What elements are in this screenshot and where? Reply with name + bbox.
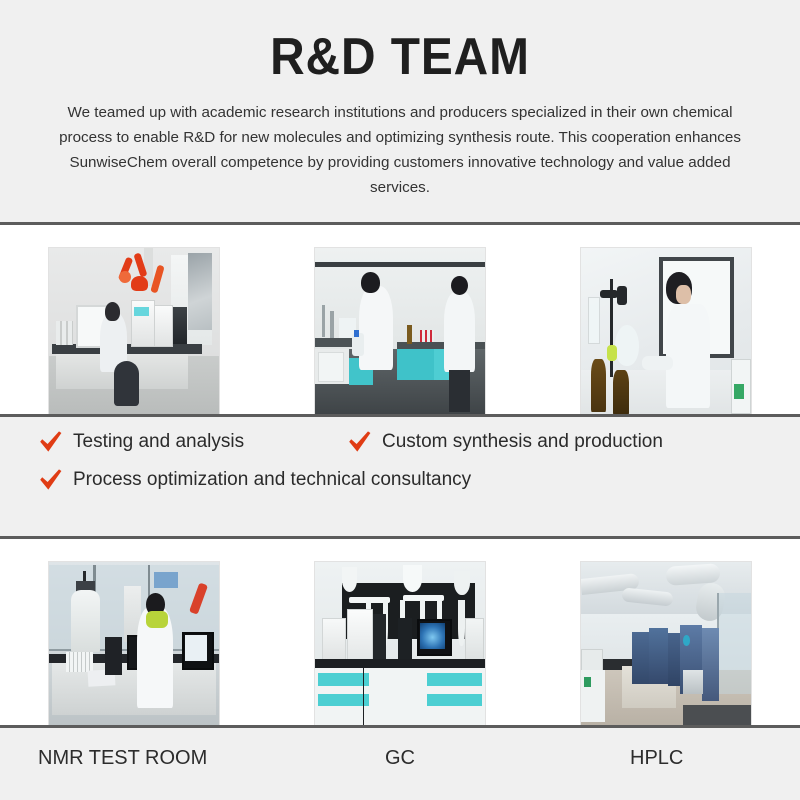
chemist-foreground xyxy=(359,286,393,370)
caption-nmr-test-room: NMR TEST ROOM xyxy=(38,744,207,772)
gc-instrument xyxy=(347,609,373,660)
test-tube-rack xyxy=(66,652,93,671)
photo-analytical-lab-operator[interactable] xyxy=(48,247,220,423)
teal-drawer xyxy=(427,694,481,706)
ceiling-extraction-hood xyxy=(454,571,469,595)
computer-tower xyxy=(398,618,412,660)
sample-vials xyxy=(420,330,434,342)
chemist-background xyxy=(444,292,475,372)
hplc-instrument xyxy=(632,632,649,684)
panel-indicator xyxy=(734,384,744,400)
round-bottom-flask xyxy=(615,325,639,367)
nmr-spectrometer xyxy=(71,590,100,653)
feature-item-testing-and-analysis[interactable]: Testing and analysis xyxy=(0,429,347,455)
instrument-badge xyxy=(683,635,690,645)
gc-instrument xyxy=(322,618,346,662)
extraction-snorkel xyxy=(458,600,465,645)
hplc-instrument xyxy=(154,305,173,347)
caption-hplc: HPLC xyxy=(630,744,683,772)
condenser-column xyxy=(588,297,600,344)
computer-tower xyxy=(373,614,387,659)
chemist-face xyxy=(676,285,691,304)
hplc-instrument xyxy=(702,628,719,701)
red-extraction-hood xyxy=(131,276,148,292)
glass-partition xyxy=(717,593,752,694)
instrument-display xyxy=(134,307,149,316)
photo-synthesis-lab-chemists[interactable] xyxy=(314,247,486,423)
binder-shelf xyxy=(56,321,73,345)
photo-hplc-room[interactable] xyxy=(580,561,752,737)
teal-cabinet xyxy=(397,349,434,380)
photo-distillation-workstation[interactable] xyxy=(580,247,752,423)
computer-tower xyxy=(105,637,122,675)
wall-trim xyxy=(315,262,485,267)
amber-bottle xyxy=(613,370,628,415)
monitor-screen xyxy=(420,623,446,649)
office-chair xyxy=(114,361,140,406)
chemist-head xyxy=(361,272,380,293)
instrument-drawer xyxy=(683,670,703,694)
rd-team-page: R&D TEAM We teamed up with academic rese… xyxy=(0,0,800,800)
monitor-screen xyxy=(185,635,207,661)
amber-bottle xyxy=(591,359,606,411)
feature-item-process-optimization-and-technical-consultancy[interactable]: Process optimization and technical consu… xyxy=(0,467,471,493)
lab-faucet xyxy=(330,311,333,339)
lab-faucet xyxy=(322,305,325,336)
chemist-head xyxy=(451,276,468,295)
hplc-instrument xyxy=(649,628,668,684)
bottle-cap xyxy=(354,330,359,337)
photo-row-top xyxy=(0,231,800,407)
check-mark-icon xyxy=(38,467,64,493)
side-instrument xyxy=(465,618,484,662)
amber-bottle xyxy=(407,325,412,344)
divider-features-bottom xyxy=(0,536,800,539)
lab-clamp xyxy=(600,290,619,299)
ceiling-extraction-hood xyxy=(403,565,422,591)
divider-hero-bottom xyxy=(0,222,800,225)
curtain xyxy=(188,253,212,330)
hero-section: R&D TEAM We teamed up with academic rese… xyxy=(0,0,800,222)
feature-label: Custom synthesis and production xyxy=(382,429,663,455)
feature-row-1: Testing and analysis Custom synthesis an… xyxy=(0,429,800,455)
feature-item-custom-synthesis-and-production[interactable]: Custom synthesis and production xyxy=(347,429,663,455)
features-section: Testing and analysis Custom synthesis an… xyxy=(0,417,800,536)
photo-row-bottom xyxy=(0,545,800,721)
caption-row: NMR TEST ROOM GC HPLC xyxy=(0,728,800,800)
green-reagent-vial xyxy=(607,345,617,361)
feature-label: Process optimization and technical consu… xyxy=(73,467,471,493)
check-mark-icon xyxy=(38,429,64,455)
caption-gc: GC xyxy=(385,744,415,772)
dark-instrument xyxy=(173,307,187,344)
feature-row-2: Process optimization and technical consu… xyxy=(0,455,800,493)
photo-nmr-test-room[interactable] xyxy=(48,561,220,737)
ultrasonic-bath xyxy=(318,352,344,382)
technician-head xyxy=(105,302,120,321)
lab-bench xyxy=(52,344,202,354)
check-mark-icon xyxy=(347,429,373,455)
green-indicator xyxy=(584,677,591,687)
feature-label: Testing and analysis xyxy=(73,429,244,455)
lab-bench xyxy=(315,659,485,668)
hero-description: We teamed up with academic research inst… xyxy=(50,100,750,200)
teal-drawer xyxy=(427,673,481,685)
chemist-legs xyxy=(449,370,469,412)
chemist-lab-coat xyxy=(666,304,710,408)
red-extraction-hood xyxy=(119,271,131,283)
chemist-arm xyxy=(642,356,673,370)
background-panel xyxy=(154,572,178,588)
green-scarf xyxy=(146,611,168,628)
photo-gc-room[interactable] xyxy=(314,561,486,737)
page-title: R&D TEAM xyxy=(32,0,768,86)
lab-clamp xyxy=(617,286,627,305)
